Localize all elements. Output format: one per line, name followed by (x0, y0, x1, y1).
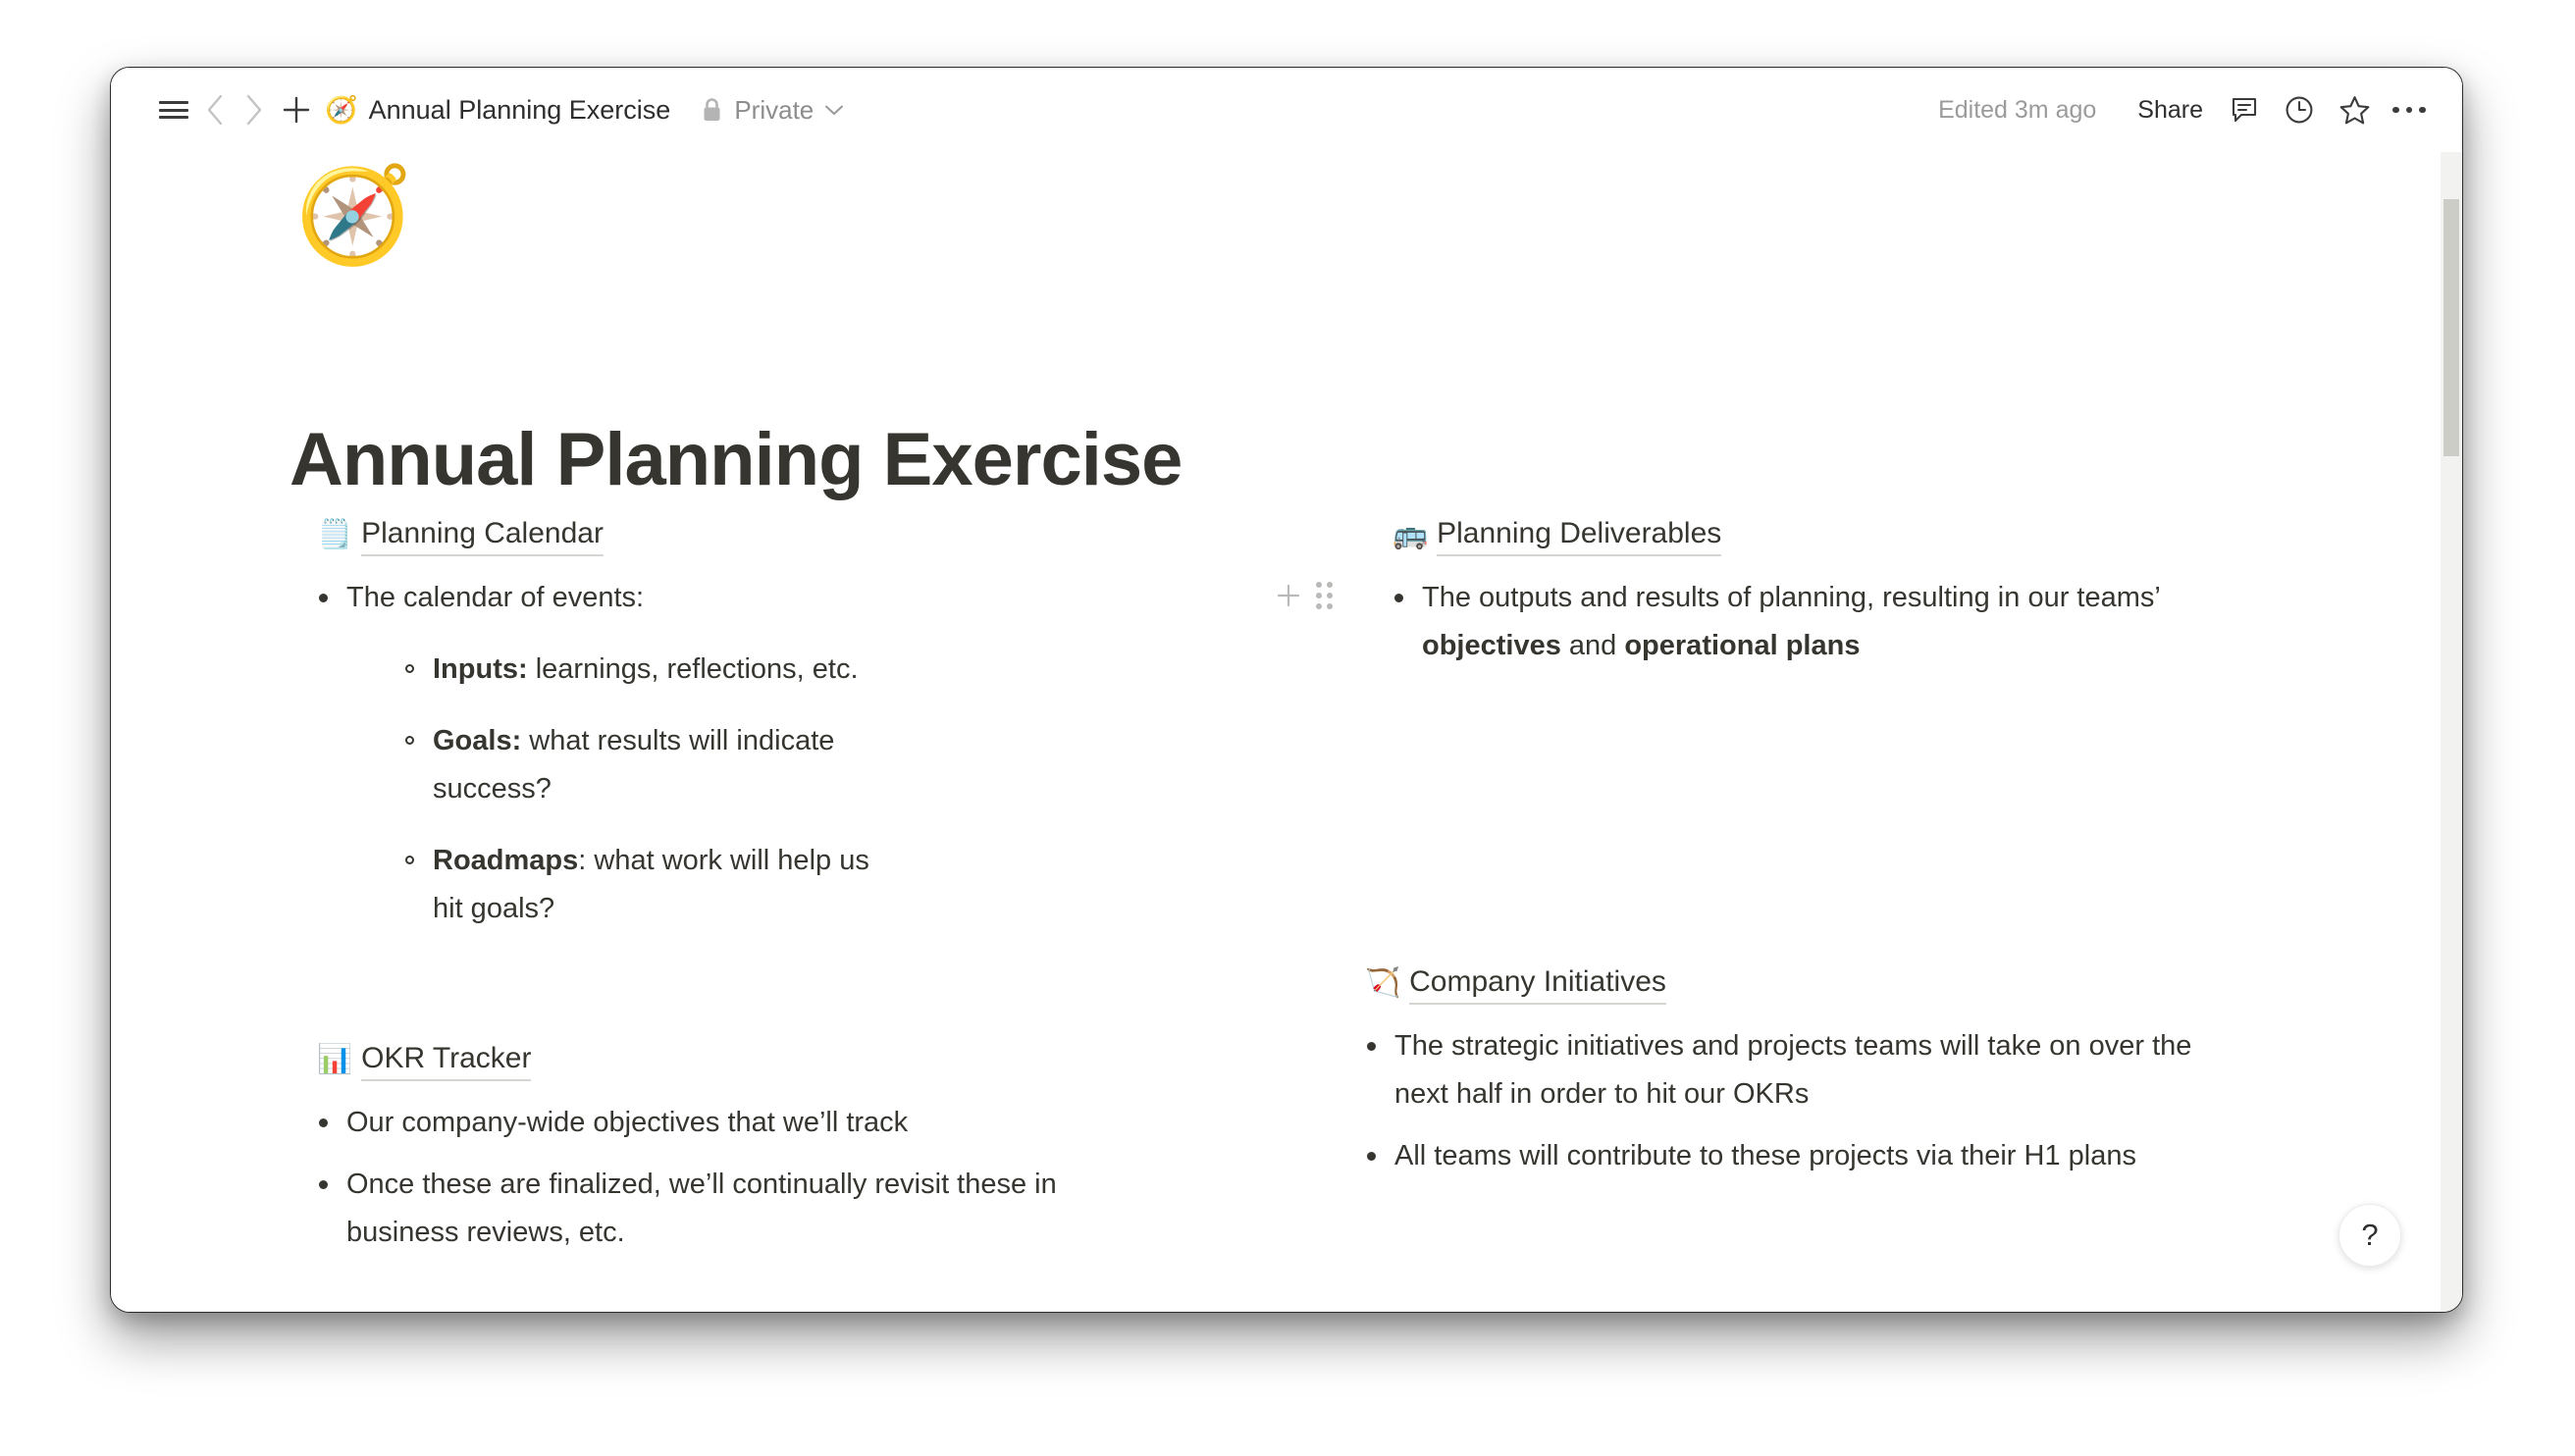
star-icon[interactable] (2327, 84, 2382, 135)
edited-status[interactable]: Edited 3m ago (1926, 86, 2108, 134)
list-item-text: Goals: what results will indicate succes… (433, 717, 894, 813)
bow-and-arrow-icon: 🏹 (1365, 964, 1400, 1000)
list-item[interactable]: Goals: what results will indicate succes… (376, 717, 1365, 813)
drag-dot (1327, 593, 1333, 598)
comment-icon[interactable] (2217, 84, 2272, 135)
drag-dot (1327, 582, 1333, 588)
section-heading: 📊 OKR Tracker (317, 1041, 1365, 1081)
list-item-text: The strategic initiatives and projects t… (1394, 1030, 2191, 1110)
toolbar-right-group: Edited 3m ago Share (1926, 84, 2437, 135)
hamburger-bar (159, 116, 188, 119)
section-planning-deliverables: 🚌 Planning Deliverables (1365, 516, 2311, 670)
share-button[interactable]: Share (2124, 86, 2217, 134)
list-item-label: Inputs: (433, 653, 528, 685)
list-item-bold-operational-plans: operational plans (1624, 630, 1860, 661)
bullet-list: The outputs and results of planning, res… (1365, 574, 2311, 670)
bullet-list: The strategic initiatives and projects t… (1338, 1022, 2311, 1180)
scrollbar-thumb[interactable] (2444, 199, 2459, 456)
list-item[interactable]: The strategic initiatives and projects t… (1338, 1022, 2209, 1118)
drag-handle-icon[interactable] (1316, 582, 1333, 609)
list-item[interactable]: The outputs and results of planning, res… (1365, 574, 2197, 670)
section-heading: 🏹 Company Initiatives (1365, 964, 2311, 1005)
bullet-list: The calendar of events: Inputs: learning… (289, 574, 1365, 933)
notepad-icon: 🗒️ (317, 516, 352, 551)
chevron-left-icon[interactable] (195, 86, 235, 133)
hamburger-bar (159, 109, 188, 112)
help-button[interactable]: ? (2339, 1204, 2401, 1267)
plus-glyph (282, 95, 311, 125)
page-link-planning-deliverables[interactable]: Planning Deliverables (1437, 516, 1721, 556)
vertical-scrollbar[interactable] (2441, 152, 2462, 1312)
column-left: 🗒️ Planning Calendar The calendar of eve… (289, 516, 1365, 1257)
page-content: 🧭 Annual Planning Exercise 🗒️ Planning C… (111, 152, 2443, 1312)
chevron-right-glyph (244, 93, 264, 127)
breadcrumb[interactable]: Annual Planning Exercise (369, 95, 671, 126)
block-hover-handles (1275, 582, 1333, 609)
list-item-rest: learnings, reflections, etc. (528, 653, 859, 685)
list-item[interactable]: Inputs: learnings, reflections, etc. (376, 646, 1365, 694)
bullet-list: Our company-wide objectives that we’ll t… (289, 1099, 1365, 1257)
page-link-company-initiatives[interactable]: Company Initiatives (1409, 964, 1666, 1005)
lock-icon (702, 97, 722, 123)
section-heading: 🚌 Planning Deliverables (1393, 516, 2311, 556)
more-dot (2419, 107, 2426, 114)
plus-icon[interactable] (1275, 582, 1302, 609)
bullet-icon (1394, 594, 1403, 602)
bullet-hollow-icon (405, 856, 414, 864)
app-window: 🧭 Annual Planning Exercise Private Edite… (110, 67, 2463, 1313)
chevron-right-icon[interactable] (235, 86, 274, 133)
plus-icon[interactable] (274, 86, 319, 133)
privacy-dropdown[interactable]: Private (696, 86, 850, 133)
bullet-hollow-icon (405, 736, 414, 745)
page-title[interactable]: Annual Planning Exercise (289, 419, 1182, 501)
list-item[interactable]: All teams will contribute to these proje… (1338, 1132, 2311, 1180)
section-heading: 🗒️ Planning Calendar (317, 516, 1365, 556)
privacy-label: Private (734, 95, 814, 126)
list-item-label: Roadmaps (433, 845, 578, 876)
hamburger-bar (159, 101, 188, 104)
star-glyph (2339, 94, 2371, 127)
list-item-text: Roadmaps: what work will help us hit goa… (433, 837, 894, 933)
list-item-text: Our company-wide objectives that we’ll t… (346, 1107, 908, 1138)
bullet-icon (1367, 1042, 1376, 1051)
page-link-okr-tracker[interactable]: OKR Tracker (361, 1041, 531, 1081)
page-emoji-icon[interactable]: 🧭 (295, 168, 413, 262)
drag-dot (1316, 593, 1322, 598)
list-item-text: Once these are finalized, we’ll continua… (346, 1169, 1057, 1248)
chevron-left-glyph (205, 93, 225, 127)
more-options-icon[interactable] (2382, 84, 2437, 135)
hamburger-icon[interactable] (152, 86, 195, 133)
list-item-text: The calendar of events: (346, 582, 644, 613)
bus-icon: 🚌 (1393, 516, 1428, 551)
page-scroll-area: 🧭 Annual Planning Exercise 🗒️ Planning C… (111, 152, 2462, 1312)
breadcrumb-page-emoji: 🧭 (325, 97, 358, 124)
list-item-text: All teams will contribute to these proje… (1394, 1140, 2136, 1171)
list-item-text: Inputs: learnings, reflections, etc. (433, 646, 894, 694)
drag-dot (1316, 582, 1322, 588)
list-item[interactable]: Roadmaps: what work will help us hit goa… (376, 837, 1365, 933)
chevron-down-icon (824, 104, 844, 117)
bar-chart-icon: 📊 (317, 1041, 352, 1076)
drag-dot (1327, 603, 1333, 609)
clock-glyph (2284, 94, 2315, 126)
bullet-icon (1367, 1152, 1376, 1161)
nested-bullet-list: Inputs: learnings, reflections, etc. Goa… (376, 646, 1365, 933)
list-item-label: Goals: (433, 725, 521, 756)
list-item-lead: The outputs and results of planning, res… (1422, 582, 2160, 613)
list-item[interactable]: Once these are finalized, we’ll continua… (289, 1161, 1141, 1257)
list-item[interactable]: The calendar of events: Inputs: learning… (289, 574, 1365, 933)
section-company-initiatives: 🏹 Company Initiatives The strategic init… (1365, 964, 2311, 1180)
more-dot (2392, 107, 2399, 114)
list-item-conjunction: and (1561, 630, 1625, 661)
bullet-icon (319, 1180, 328, 1189)
list-item-text: The outputs and results of planning, res… (1422, 574, 2197, 670)
list-item[interactable]: Our company-wide objectives that we’ll t… (289, 1099, 1365, 1147)
bullet-hollow-icon (405, 664, 414, 673)
section-planning-calendar: 🗒️ Planning Calendar The calendar of eve… (289, 516, 1365, 933)
drag-dot (1316, 603, 1322, 609)
bullet-icon (319, 1118, 328, 1127)
clock-history-icon[interactable] (2272, 84, 2327, 135)
column-right: 🚌 Planning Deliverables (1365, 516, 2311, 1257)
page-link-planning-calendar[interactable]: Planning Calendar (361, 516, 604, 556)
comment-glyph (2230, 95, 2259, 125)
toolbar-left-group: 🧭 Annual Planning Exercise Private (152, 86, 850, 133)
column-layout: 🗒️ Planning Calendar The calendar of eve… (289, 516, 2311, 1257)
list-item-bold-objectives: objectives (1422, 630, 1561, 661)
more-dot (2406, 107, 2413, 114)
section-okr-tracker: 📊 OKR Tracker Our company-wide objective… (289, 1041, 1365, 1257)
top-toolbar: 🧭 Annual Planning Exercise Private Edite… (111, 68, 2462, 152)
bullet-icon (319, 594, 328, 602)
